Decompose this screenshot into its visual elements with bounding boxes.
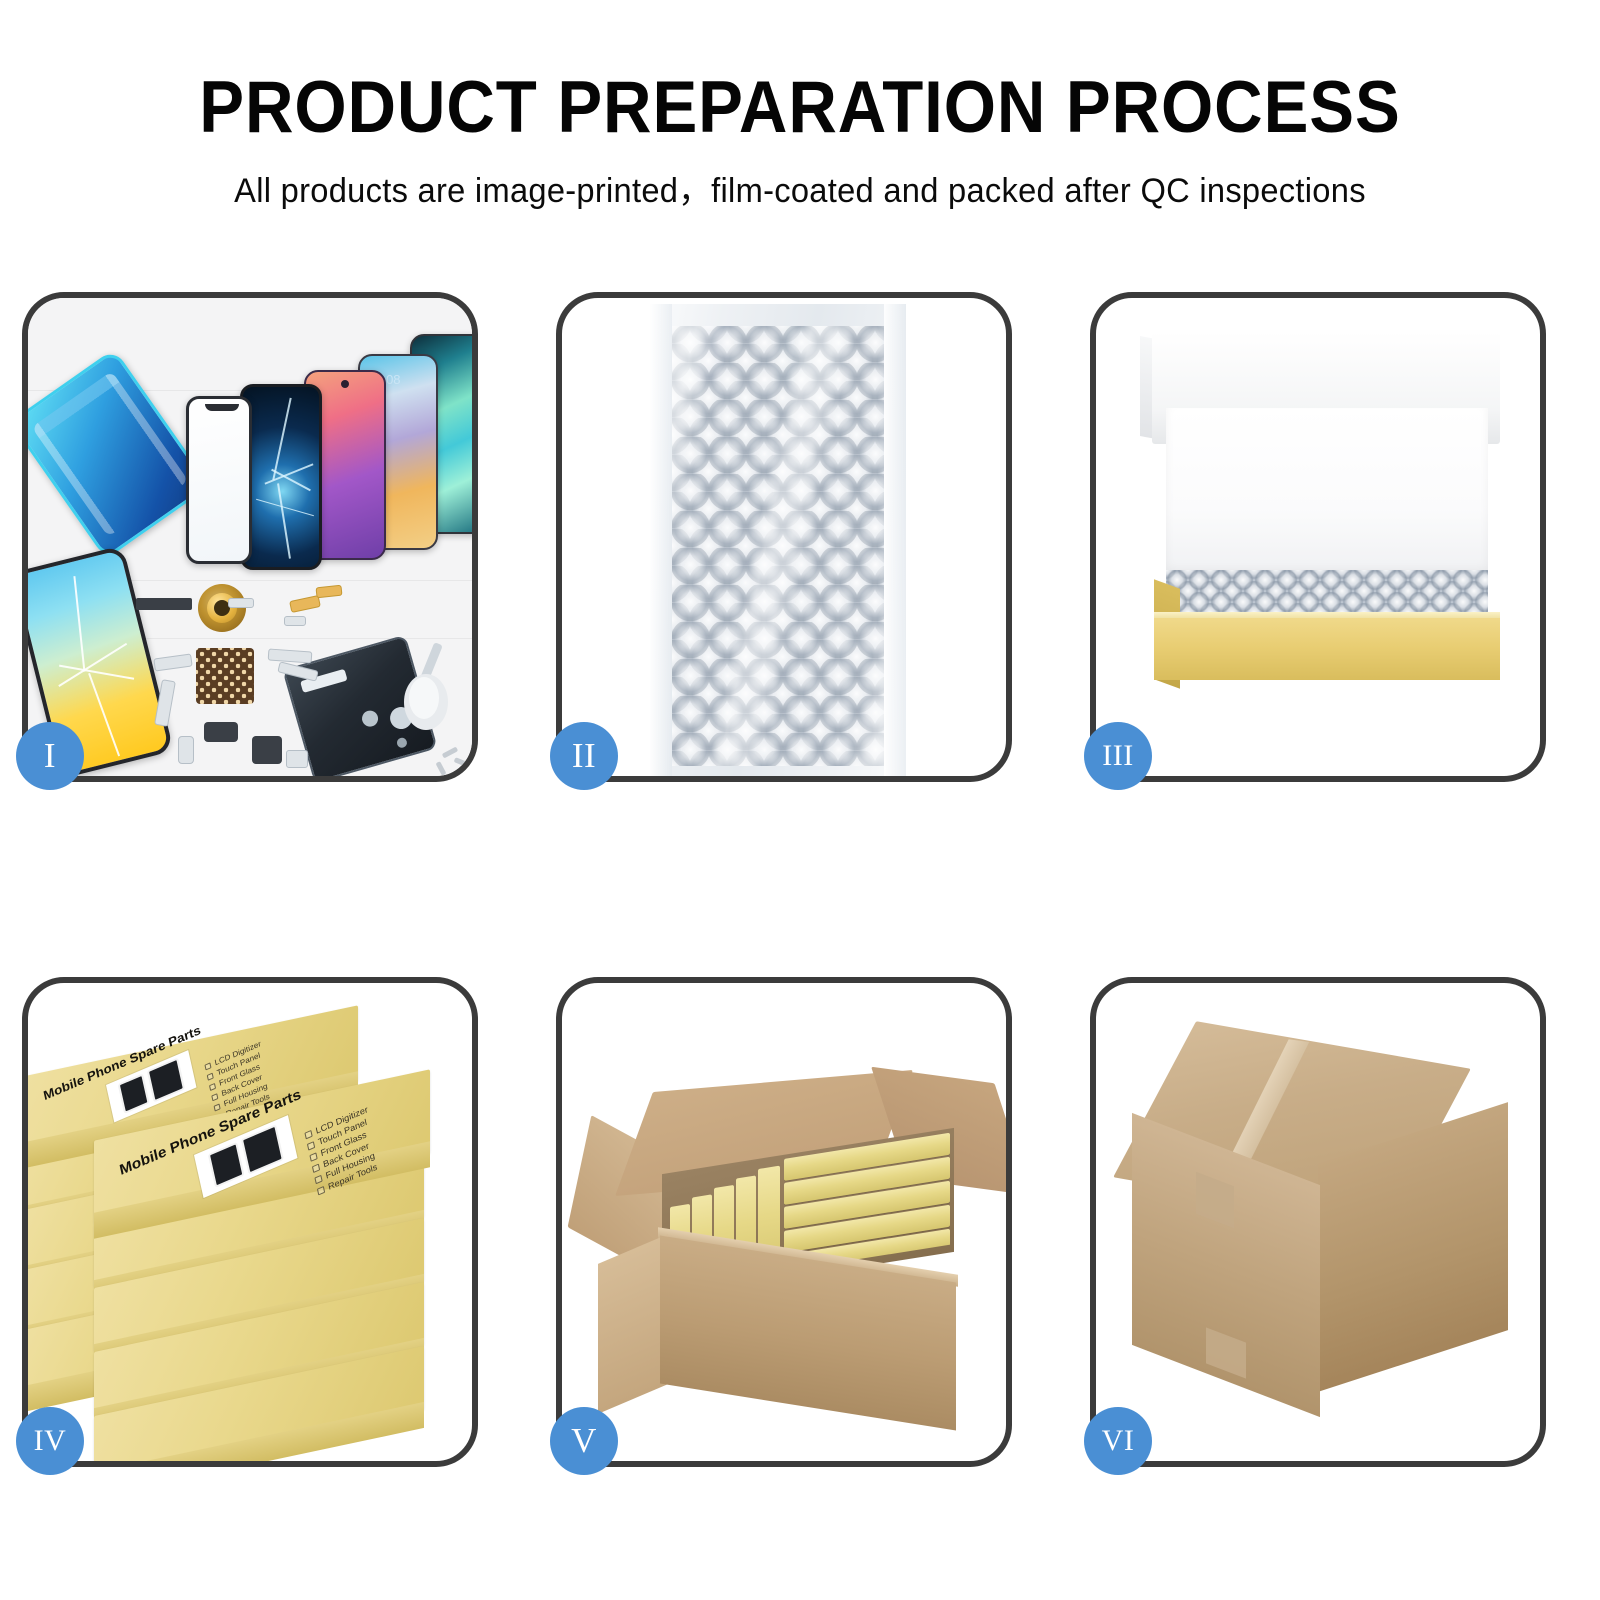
retail-box — [94, 1381, 424, 1445]
speaker-part — [286, 750, 308, 768]
bag-edge — [884, 304, 906, 776]
step-2-image — [562, 298, 1006, 776]
smd-component-part — [136, 598, 192, 610]
checkbox-icon — [204, 1062, 211, 1070]
step-5-image — [562, 983, 1006, 1461]
checkbox-icon — [209, 1082, 216, 1090]
step-badge-2: II — [550, 722, 618, 790]
step-badge-5: V — [550, 1407, 618, 1475]
checkbox-icon — [309, 1152, 317, 1161]
step-badge-4: IV — [16, 1407, 84, 1475]
step-panel-2[interactable]: II — [556, 292, 1012, 782]
checkbox-icon — [211, 1093, 218, 1101]
step-6-image — [1096, 983, 1540, 1461]
checkbox-icon — [312, 1163, 320, 1172]
bubble-wrap-bag — [650, 304, 906, 776]
infographic-page: PRODUCT PREPARATION PROCESS All products… — [0, 0, 1600, 1600]
carton-left-panel — [598, 1234, 668, 1414]
repair-tool-brush — [380, 638, 464, 734]
wireless-charging-coil-part — [198, 584, 246, 632]
carton-front-panel — [660, 1236, 956, 1431]
step-3-image — [1096, 298, 1540, 776]
process-steps-grid: 08 08 — [22, 292, 1578, 1467]
ic-chip-part — [196, 648, 254, 704]
checkbox-icon — [304, 1129, 312, 1138]
checkbox-icon — [207, 1072, 214, 1080]
checkbox-icon — [314, 1174, 322, 1183]
checkbox-icon — [307, 1141, 315, 1150]
foam-insert — [1166, 408, 1488, 576]
retail-box-printed: Mobile Phone Spare Parts LCD Digitizer — [94, 1105, 430, 1189]
sim-tray-part — [178, 736, 194, 764]
smd-component-part — [204, 722, 238, 742]
step-panel-4[interactable]: Mobile Phone Spare Parts LCD Digitizer — [22, 977, 478, 1467]
page-title: PRODUCT PREPARATION PROCESS — [64, 70, 1536, 147]
front-glass-part — [186, 396, 252, 564]
flex-cable-part — [228, 598, 254, 608]
step-panel-1[interactable]: 08 08 — [22, 292, 478, 782]
step-panel-5[interactable]: V — [556, 977, 1012, 1467]
plastic-sheen — [672, 326, 884, 766]
smd-component-part — [252, 736, 282, 764]
retail-box-stack: Mobile Phone Spare Parts LCD Digitizer — [28, 983, 472, 1461]
flex-cable-part — [284, 616, 306, 626]
checkbox-icon — [317, 1186, 325, 1195]
page-subtitle: All products are image-printed，film-coat… — [32, 163, 1568, 212]
header: PRODUCT PREPARATION PROCESS All products… — [0, 70, 1600, 212]
step-badge-1: I — [16, 722, 84, 790]
step-badge-6: VI — [1084, 1407, 1152, 1475]
step-1-image: 08 08 — [28, 298, 472, 776]
phone-cracked-screen — [240, 384, 322, 570]
step-panel-6[interactable]: VI — [1090, 977, 1546, 1467]
step-panel-3[interactable]: III — [1090, 292, 1546, 782]
step-4-image: Mobile Phone Spare Parts LCD Digitizer — [28, 983, 472, 1461]
box-front-panel — [1154, 618, 1500, 680]
step-badge-3: III — [1084, 722, 1152, 790]
bag-edge — [650, 304, 672, 776]
